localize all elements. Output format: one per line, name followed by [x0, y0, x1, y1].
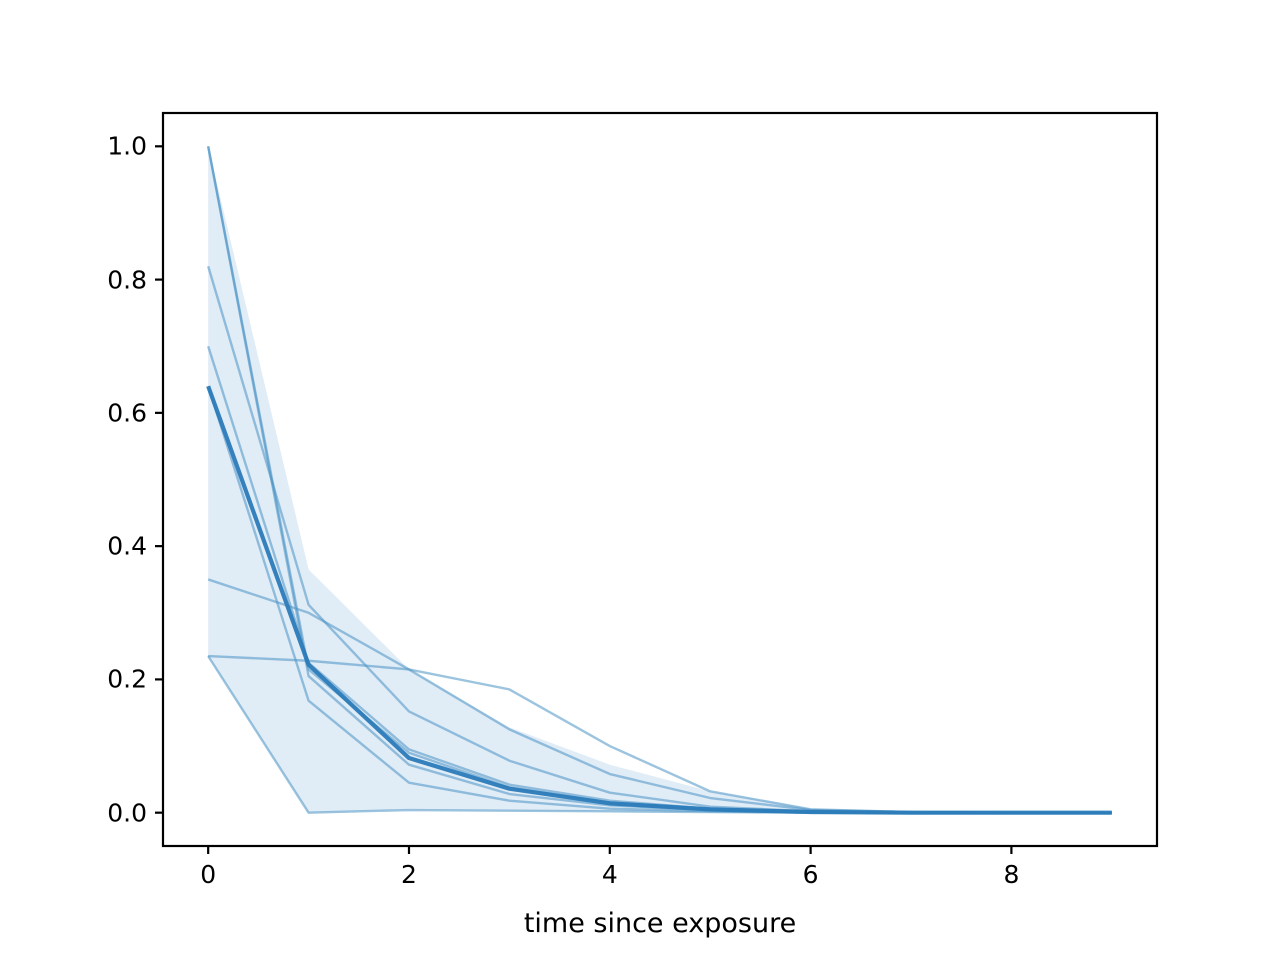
x-tick-label: 0: [200, 862, 216, 887]
x-tick-label: 2: [401, 862, 417, 887]
confidence-band: [208, 146, 1112, 812]
band-polygon: [208, 146, 1112, 812]
x-tick-label: 6: [803, 862, 819, 887]
x-tick-label: 4: [602, 862, 618, 887]
y-tick-label: 0.8: [107, 267, 147, 292]
y-tick-label: 0.4: [107, 534, 147, 559]
y-tick-label: 1.0: [107, 134, 147, 159]
y-tick-label: 0.2: [107, 667, 147, 692]
chart-plot-area: [0, 0, 1280, 960]
x-tick-label: 8: [1003, 862, 1019, 887]
y-tick-label: 0.0: [107, 800, 147, 825]
x-axis-label: time since exposure: [524, 908, 796, 939]
y-tick-label: 0.6: [107, 400, 147, 425]
figure-canvas: 0.00.20.40.60.81.0 02468 time since expo…: [0, 0, 1280, 960]
